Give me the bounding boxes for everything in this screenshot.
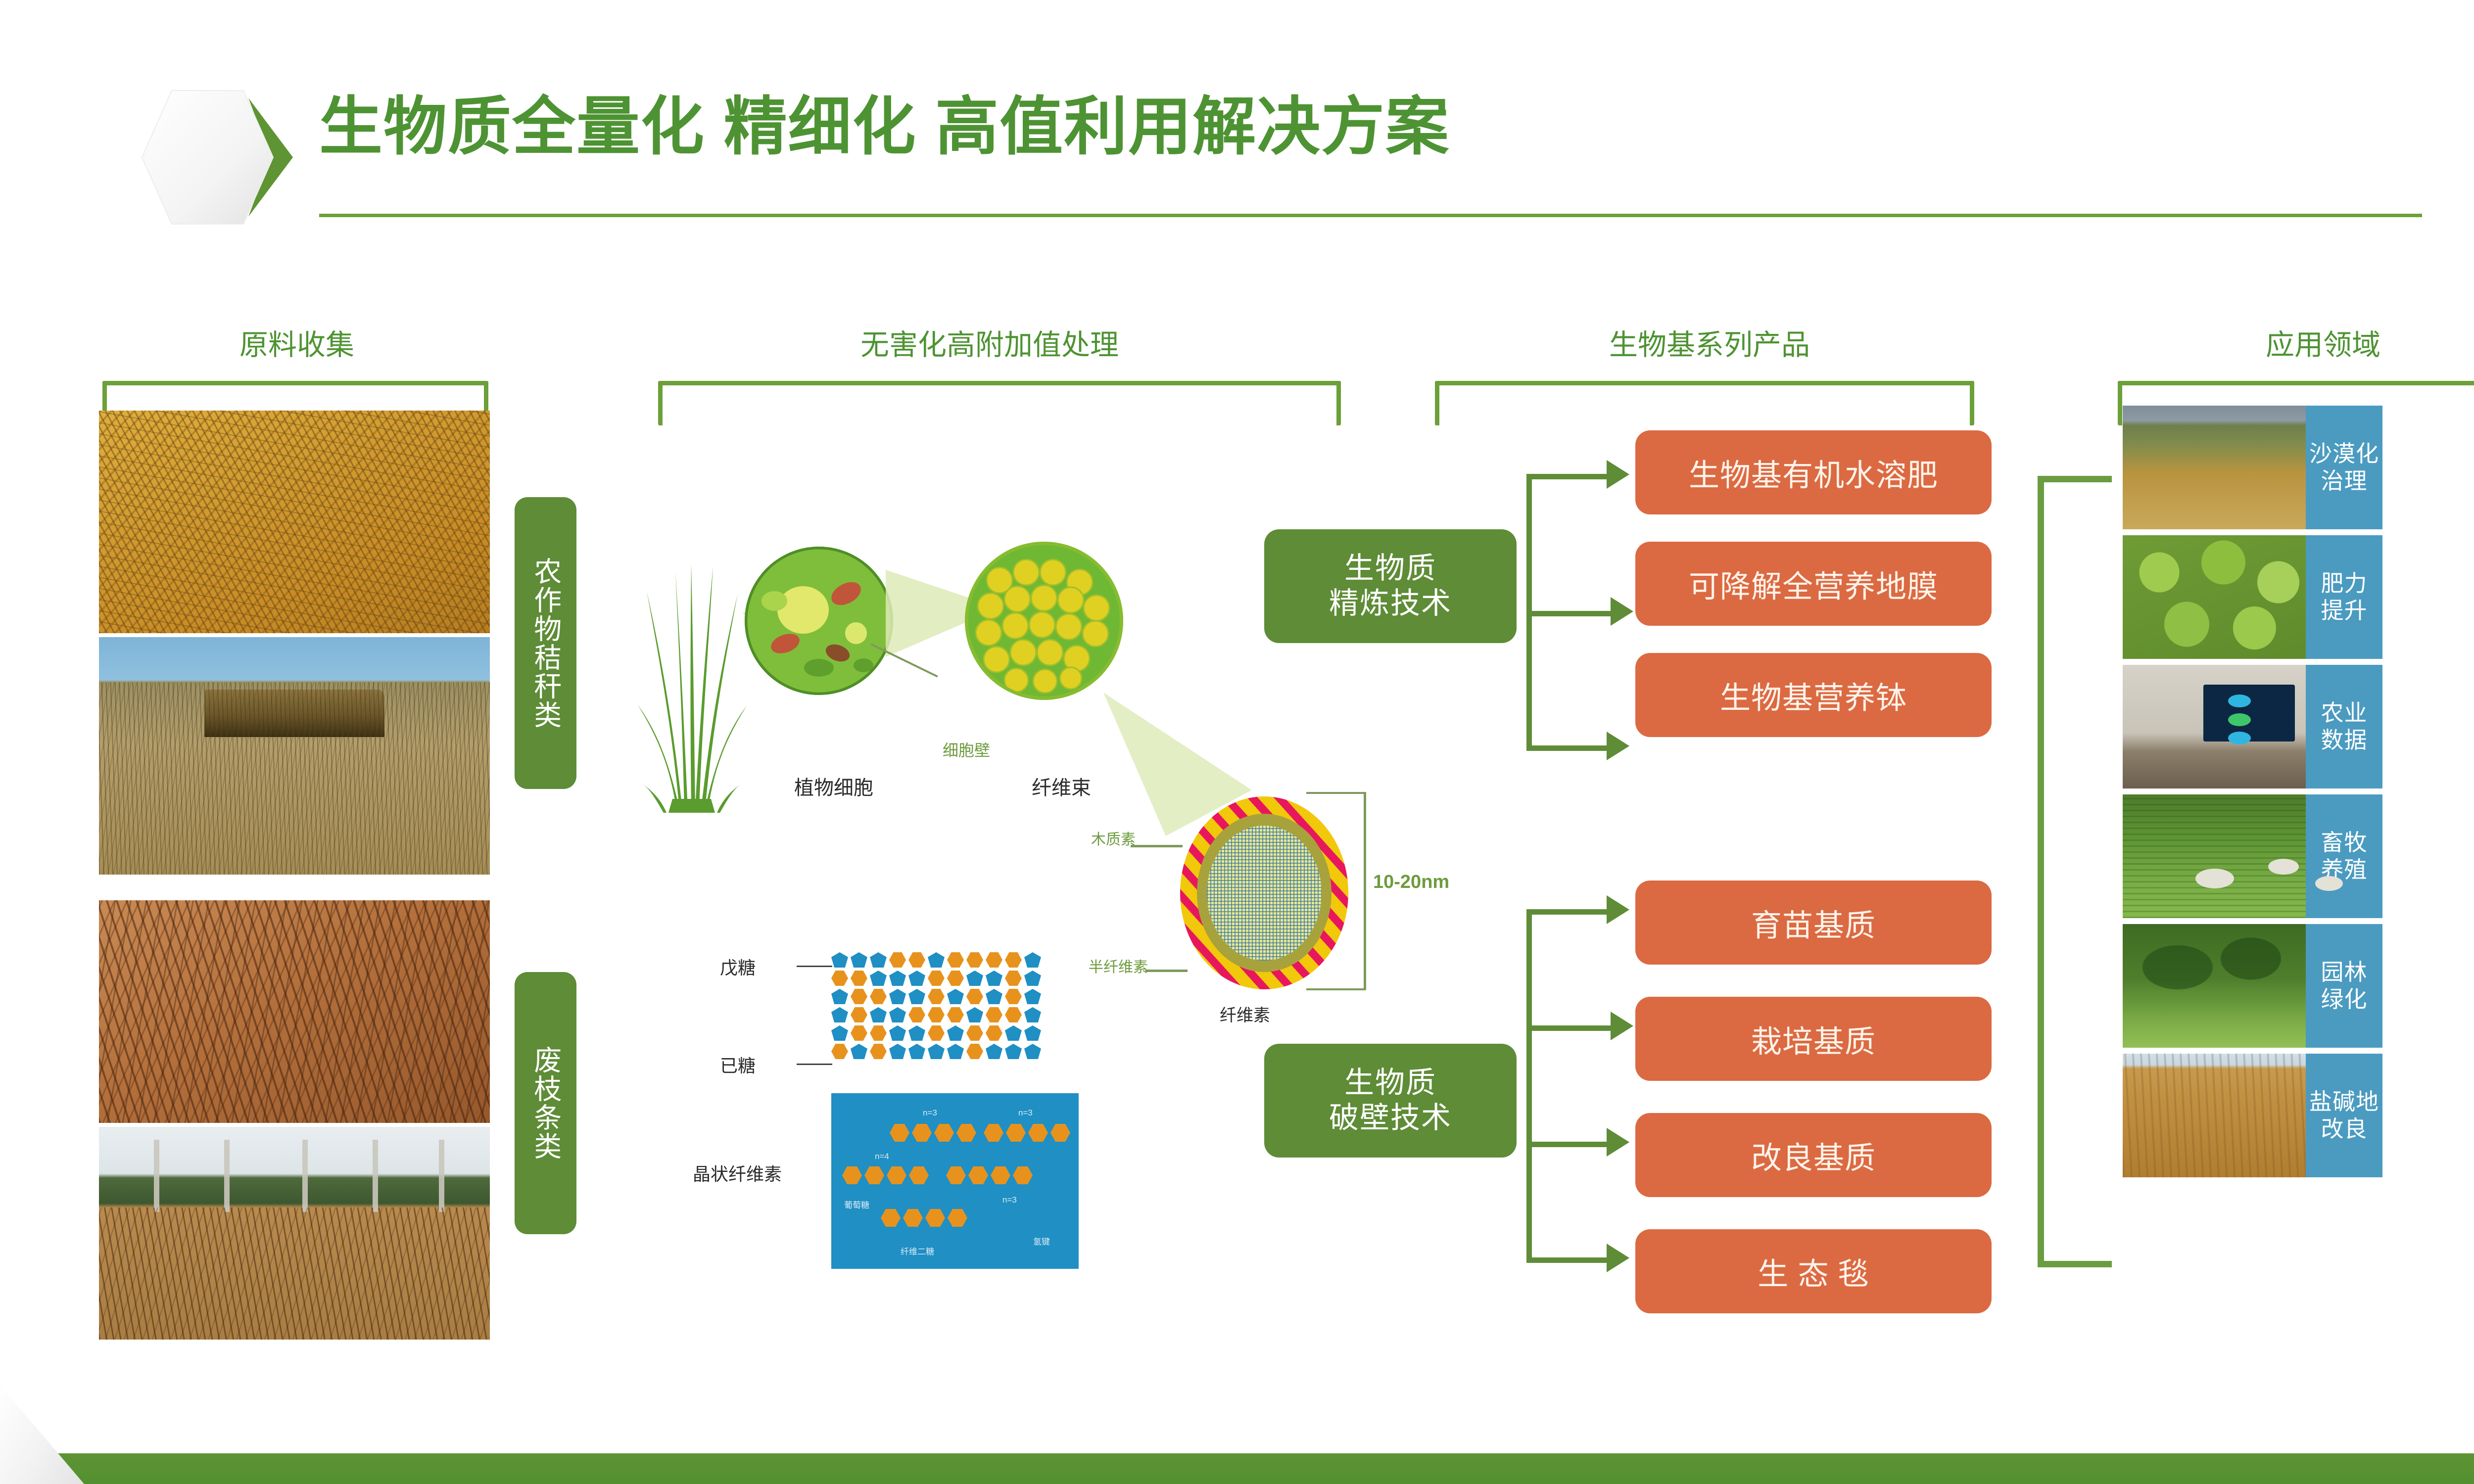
section-header-products: 生物基系列产品 <box>1430 322 1989 363</box>
product-improvement-substrate[interactable]: 改良基质 <box>1635 1113 1992 1197</box>
application-livestock-breeding[interactable]: 畜牧 养殖 <box>2123 794 2382 918</box>
pentose-leader-line <box>797 966 832 967</box>
product-degradable-mulch-film[interactable]: 可降解全营养地膜 <box>1635 542 1992 626</box>
product-bio-organic-fertilizer[interactable]: 生物基有机水溶肥 <box>1635 430 1992 514</box>
product-nutrition-pot[interactable]: 生物基营养钵 <box>1635 653 1992 737</box>
hay-bale-field-photo <box>99 637 490 875</box>
application-label-line1: 沙漠化 <box>2309 440 2379 467</box>
plant-cell-label: 植物细胞 <box>794 772 873 800</box>
refining-tech-pill[interactable]: 生物质 精炼技术 <box>1264 529 1517 643</box>
application-desertification-control[interactable]: 沙漠化 治理 <box>2123 406 2382 529</box>
hemicellulose-label: 半纤维素 <box>1089 955 1148 976</box>
cellulose-label: 纤维素 <box>1220 1002 1270 1026</box>
crystalline-mark-4: 葡萄糖 <box>844 1198 869 1210</box>
sugar-chain-illustration <box>831 952 1041 1062</box>
application-fertility-improvement[interactable]: 肥力 提升 <box>2123 535 2382 659</box>
connector-cellwall-to-products <box>1526 905 1640 1291</box>
product-label: 生 态 毯 <box>1758 1249 1869 1294</box>
cellwall-tech-line2: 破壁技术 <box>1329 1101 1452 1136</box>
crystalline-mark-1: n=3 <box>1018 1108 1033 1118</box>
connector-refining-to-products <box>1526 470 1640 782</box>
section-header-raw-material: 原料收集 <box>99 322 495 363</box>
cabbage-field-photo <box>2123 535 2306 659</box>
product-label: 改良基质 <box>1751 1133 1876 1177</box>
application-label-line2: 治理 <box>2321 467 2368 495</box>
dimension-label: 10-20nm <box>1373 872 1449 893</box>
crystalline-cellulose-label: 晶状纤维素 <box>693 1160 782 1186</box>
section-header-applications: 应用领域 <box>2113 322 2474 363</box>
product-label: 生物基营养钵 <box>1720 673 1907 717</box>
application-label-line2: 提升 <box>2321 597 2368 624</box>
hemicellulose-leader-line <box>1145 970 1188 972</box>
sheep-pasture-photo <box>2123 794 2306 918</box>
dimension-tick-top <box>1306 792 1366 794</box>
application-label-line1: 农业 <box>2321 699 2368 727</box>
pentose-label: 戊糖 <box>720 954 756 979</box>
dimension-bar <box>1364 792 1366 990</box>
application-label-line1: 园林 <box>2321 959 2368 986</box>
fiber-bundle-illustration <box>965 542 1123 700</box>
crystalline-cellulose-illustration: n=3 n=3 n=4 n=3 葡萄糖 纤维二糖 氢键 <box>831 1093 1079 1269</box>
bracket-processing <box>658 381 1341 425</box>
application-saline-alkali-improvement[interactable]: 盐碱地 改良 <box>2123 1054 2382 1177</box>
application-label-line2: 改良 <box>2321 1115 2368 1143</box>
waste-branch-label: 废枝条类 <box>515 972 576 1234</box>
hexose-label: 已糖 <box>720 1052 756 1077</box>
application-label-line2: 绿化 <box>2321 986 2368 1013</box>
application-tag: 盐碱地 改良 <box>2306 1054 2382 1177</box>
hexose-leader-line <box>797 1064 832 1065</box>
hexagon-chevron-icon <box>135 83 298 232</box>
application-tag: 肥力 提升 <box>2306 535 2382 659</box>
desert-restoration-photo <box>2123 406 2306 529</box>
lignin-leader-line <box>1131 845 1183 847</box>
title-underline <box>319 214 2422 217</box>
application-label-line2: 数据 <box>2321 727 2368 754</box>
refining-tech-line2: 精炼技术 <box>1329 586 1452 621</box>
crop-straw-label: 农作物秸秆类 <box>515 497 576 789</box>
refining-tech-line1: 生物质 <box>1344 551 1436 586</box>
application-label-line1: 畜牧 <box>2321 829 2368 856</box>
crop-straw-label-text: 农作物秸秆类 <box>530 557 560 729</box>
bottom-left-corner-shape <box>0 1385 84 1484</box>
application-tag: 畜牧 养殖 <box>2306 794 2382 918</box>
page-title: 生物质全量化 精细化 高值利用解决方案 <box>319 94 1450 160</box>
data-control-room-photo <box>2123 665 2306 788</box>
crystalline-mark-5: 纤维二糖 <box>901 1245 934 1257</box>
fiber-cross-section-illustration <box>1180 796 1348 989</box>
corn-straw-photo <box>99 411 490 633</box>
application-label-line1: 盐碱地 <box>2309 1088 2379 1115</box>
waste-branch-label-text: 废枝条类 <box>530 1046 560 1160</box>
application-tag: 园林 绿化 <box>2306 924 2382 1048</box>
application-agriculture-data[interactable]: 农业 数据 <box>2123 665 2382 788</box>
crystalline-mark-3: n=3 <box>1002 1195 1017 1205</box>
product-label: 生物基有机水溶肥 <box>1689 450 1938 495</box>
cellwall-breaking-tech-pill[interactable]: 生物质 破壁技术 <box>1264 1044 1517 1158</box>
application-tag: 农业 数据 <box>2306 665 2382 788</box>
dimension-tick-bottom <box>1306 988 1366 990</box>
application-landscape-greening[interactable]: 园林 绿化 <box>2123 924 2382 1048</box>
application-label-line1: 肥力 <box>2321 570 2368 597</box>
product-label: 可降解全营养地膜 <box>1689 561 1938 606</box>
crystalline-mark-6: 氢键 <box>1033 1235 1050 1247</box>
section-header-processing: 无害化高附加值处理 <box>638 322 1341 363</box>
saline-land-photo <box>2123 1054 2306 1177</box>
crystalline-mark-0: n=3 <box>923 1108 937 1118</box>
cellwall-label: 细胞壁 <box>943 738 990 761</box>
park-greening-photo <box>2123 924 2306 1048</box>
product-label: 育苗基质 <box>1751 900 1876 945</box>
product-ecological-blanket[interactable]: 生 态 毯 <box>1635 1229 1992 1313</box>
product-seedling-substrate[interactable]: 育苗基质 <box>1635 881 1992 965</box>
crystalline-mark-2: n=4 <box>875 1152 889 1161</box>
cellwall-tech-line1: 生物质 <box>1344 1066 1436 1101</box>
lignin-label: 木质素 <box>1091 827 1136 849</box>
dry-branches-photo <box>99 900 490 1123</box>
product-cultivation-substrate[interactable]: 栽培基质 <box>1635 997 1992 1081</box>
bracket-products <box>1435 381 1974 425</box>
bottom-accent-bar <box>0 1453 2474 1484</box>
orchard-pruning-photo <box>99 1127 490 1340</box>
connector-products-to-applications <box>2038 476 2112 1267</box>
application-tag: 沙漠化 治理 <box>2306 406 2382 529</box>
plant-cell-illustration <box>745 547 893 695</box>
product-label: 栽培基质 <box>1751 1017 1876 1061</box>
grass-plant-icon <box>621 552 760 814</box>
fiber-bundle-label: 纤维束 <box>1032 772 1091 800</box>
slide-canvas: 生物质全量化 精细化 高值利用解决方案 原料收集 无害化高附加值处理 生物基系列… <box>0 0 2474 1484</box>
